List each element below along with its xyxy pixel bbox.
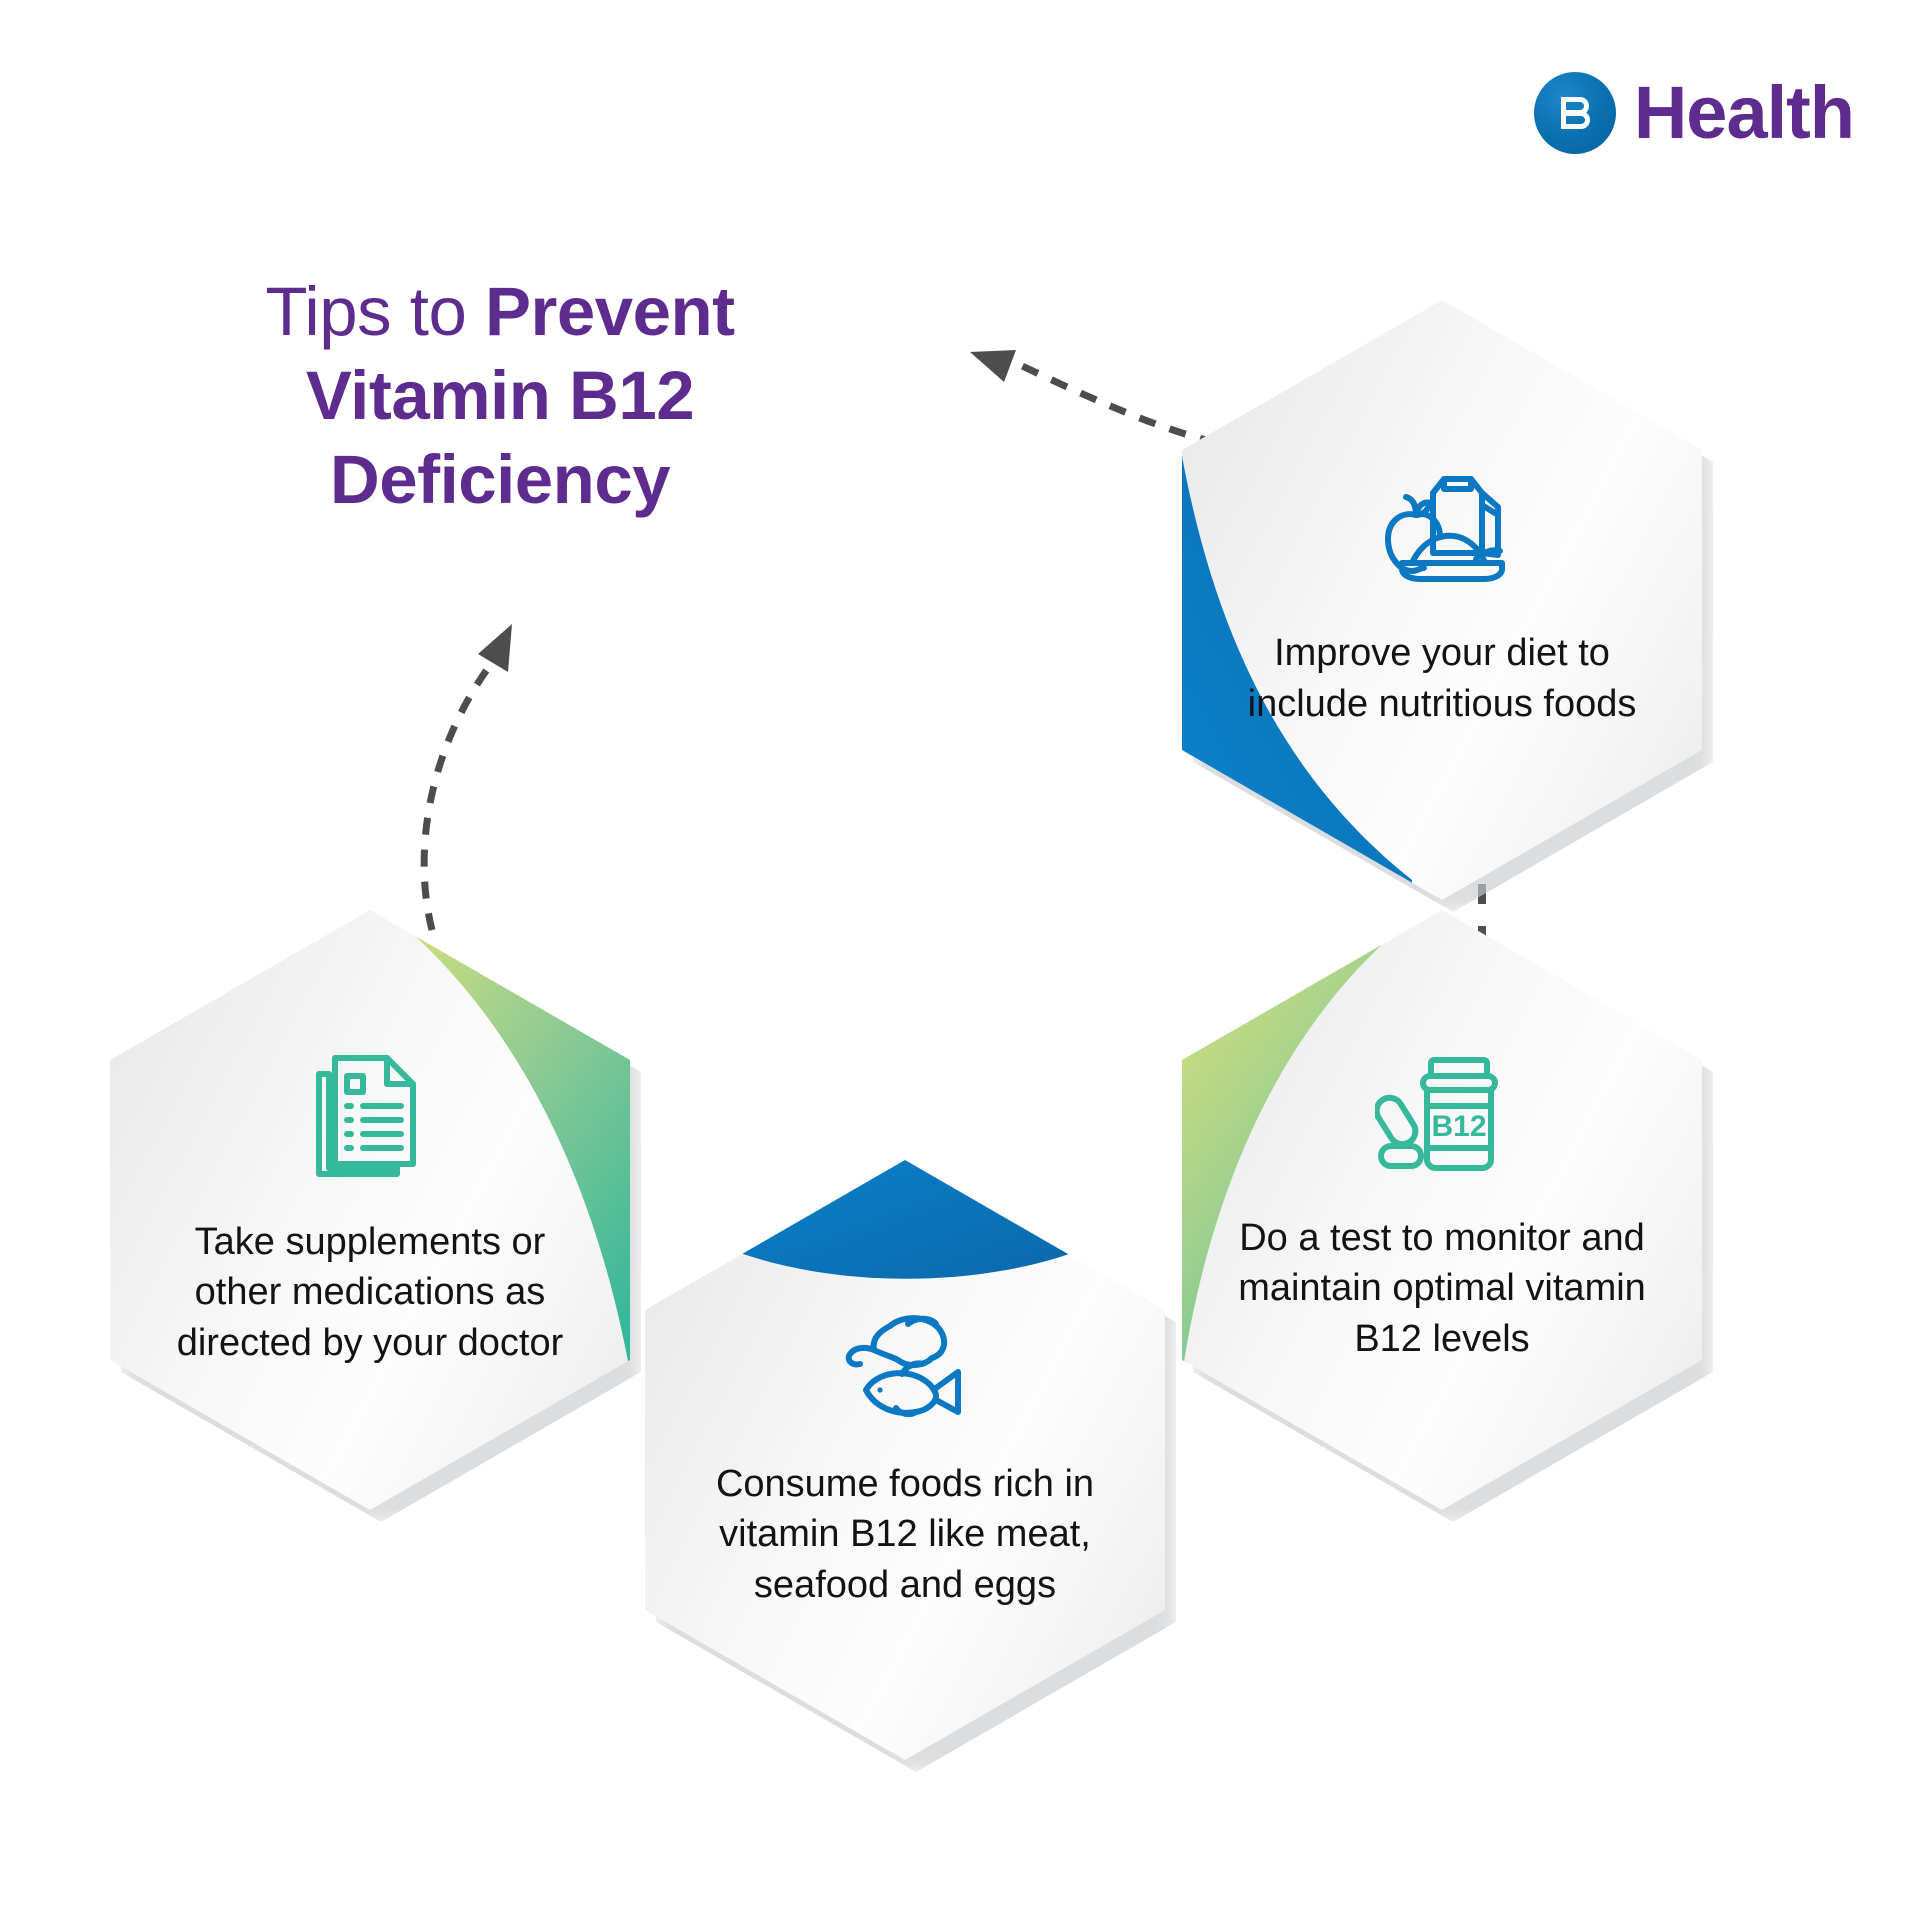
connector-arrow-left-to-title xyxy=(400,590,560,940)
card-content: Improve your diet to include nutritious … xyxy=(1182,300,1702,900)
step-text: Consume foods rich in vitamin B12 like m… xyxy=(687,1459,1123,1609)
step-card-do-a-test[interactable]: B12 Do a test to monitor and maintain op… xyxy=(1182,910,1702,1510)
step-card-improve-diet[interactable]: Improve your diet to include nutritious … xyxy=(1182,300,1702,900)
card-content: B12 Do a test to monitor and maintain op… xyxy=(1182,910,1702,1510)
svg-text:B12: B12 xyxy=(1431,1110,1486,1143)
card-content: Take supplements or other medications as… xyxy=(110,910,630,1510)
infographic-stage: Improve your diet to include nutritious … xyxy=(0,0,1920,1920)
healthy-food-icon xyxy=(1372,471,1512,594)
step-text: Do a test to monitor and maintain optima… xyxy=(1224,1213,1660,1363)
step-text: Improve your diet to include nutritious … xyxy=(1224,628,1660,728)
step-card-consume-b12-foods[interactable]: Consume foods rich in vitamin B12 like m… xyxy=(645,1160,1165,1760)
seafood-icon xyxy=(832,1310,978,1425)
prescription-document-icon xyxy=(311,1052,429,1183)
b12-supplement-bottle-icon: B12 xyxy=(1375,1056,1509,1179)
card-content: Consume foods rich in vitamin B12 like m… xyxy=(645,1160,1165,1760)
step-card-take-supplements[interactable]: Take supplements or other medications as… xyxy=(110,910,630,1510)
step-text: Take supplements or other medications as… xyxy=(152,1217,588,1367)
